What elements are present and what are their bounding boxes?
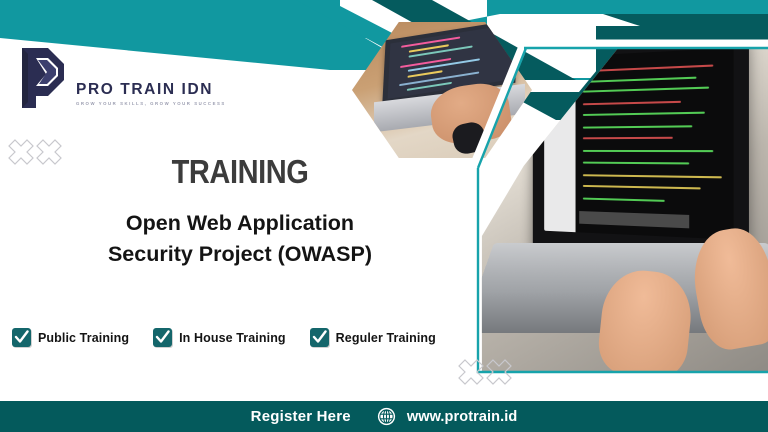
training-kicker: TRAINING [82, 155, 399, 188]
option-label: Public Training [38, 331, 129, 345]
brand-text: PRO TRAIN IDN GROW YOUR SKILLS, GROW YOU… [76, 82, 226, 113]
website-url[interactable]: www.protrain.id [407, 409, 518, 425]
brand-name: PRO TRAIN IDN [76, 82, 226, 98]
globe-icon [377, 407, 396, 426]
course-title: Open Web Application Security Project (O… [60, 208, 420, 270]
course-title-line-1: Open Web Application [60, 208, 420, 239]
option-label: In House Training [179, 331, 286, 345]
headline-block: TRAINING Open Web Application Security P… [60, 155, 420, 270]
training-options-row: Public Training In House Training Regule… [12, 328, 436, 347]
checkbox-checked-icon[interactable] [12, 328, 31, 347]
brand-tagline: GROW YOUR SKILLS, GROW YOUR SUCCESS [76, 101, 226, 106]
poster-canvas: PRO TRAIN IDN GROW YOUR SKILLS, GROW YOU… [0, 0, 768, 432]
option-label: Reguler Training [336, 331, 436, 345]
brand-logo: PRO TRAIN IDN GROW YOUR SKILLS, GROW YOU… [14, 44, 226, 112]
option-in-house-training[interactable]: In House Training [153, 328, 286, 347]
website-group[interactable]: www.protrain.id [377, 407, 518, 426]
option-public-training[interactable]: Public Training [12, 328, 129, 347]
course-title-line-2: Security Project (OWASP) [60, 239, 420, 270]
checkbox-checked-icon[interactable] [310, 328, 329, 347]
footer-bar: Register Here www.protrain.id [0, 401, 768, 432]
register-here-label[interactable]: Register Here [251, 408, 351, 425]
x-pattern-icon-bottom [458, 358, 522, 391]
pro-train-arrow-logo-icon [14, 44, 70, 112]
option-reguler-training[interactable]: Reguler Training [310, 328, 436, 347]
checkbox-checked-icon[interactable] [153, 328, 172, 347]
